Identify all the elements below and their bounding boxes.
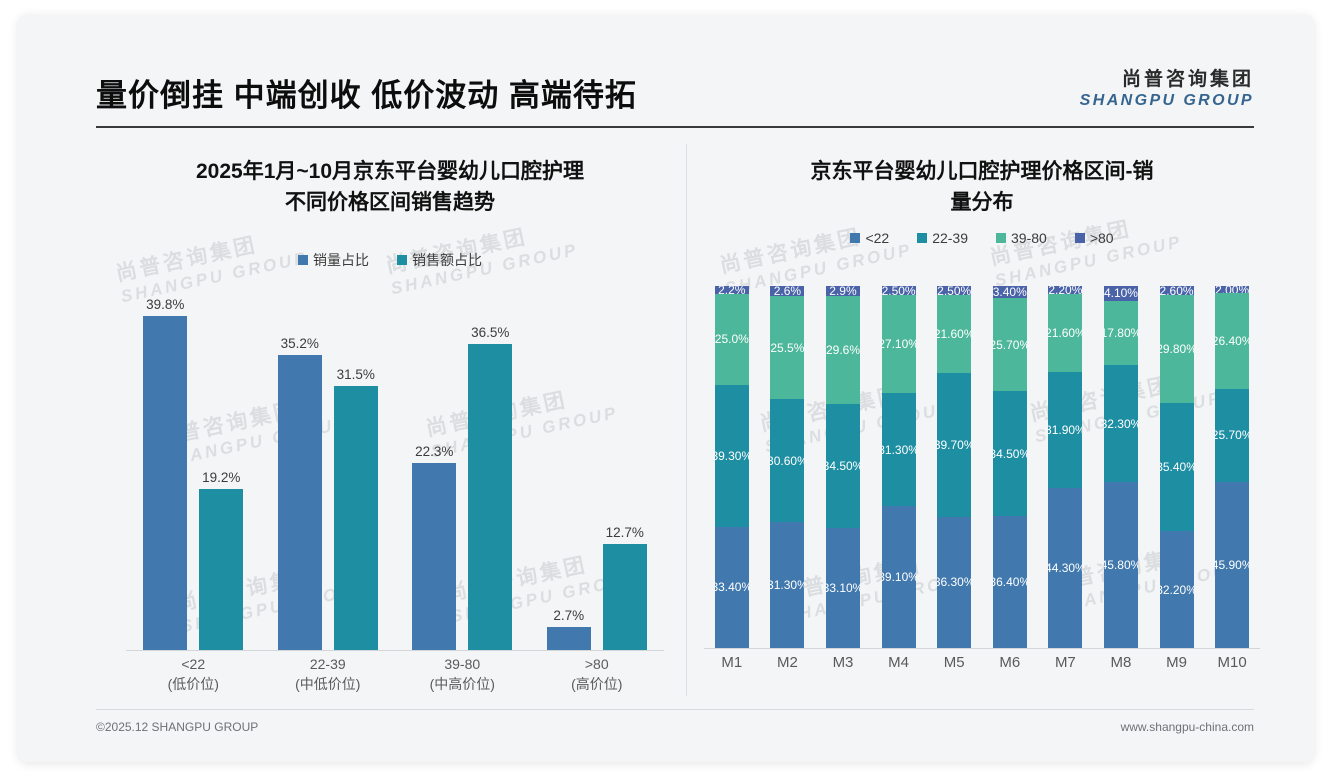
bar[interactable]	[278, 355, 322, 650]
stacked-bar-segment[interactable]: 3.40%	[993, 286, 1027, 298]
stacked-bar-segment[interactable]: 17.80%	[1104, 301, 1138, 365]
x-axis-tick: M3	[815, 654, 871, 671]
segment-value-label: 26.40%	[1215, 334, 1249, 348]
stacked-bar-segment[interactable]: 32.20%	[1160, 531, 1194, 648]
x-axis-tick: <22(低价位)	[126, 654, 261, 694]
x-axis-tick: >80(高价位)	[530, 654, 665, 694]
stacked-bar-column[interactable]: 2.20%21.60%31.90%44.30%	[1038, 286, 1094, 648]
stacked-bar-segment[interactable]: 36.40%	[993, 516, 1027, 648]
bar[interactable]	[334, 386, 378, 650]
stacked-bar-segment[interactable]: 2.00%	[1215, 286, 1249, 293]
logo-chinese-text: 尚普咨询集团	[1080, 69, 1254, 91]
panel-divider	[686, 144, 687, 696]
segment-value-label: 33.40%	[715, 580, 749, 594]
stacked-bar-column[interactable]: 2.6%25.5%30.60%31.30%	[760, 286, 816, 648]
x-axis-tick: M2	[760, 654, 816, 671]
stacked-bar-segment[interactable]: 2.20%	[1048, 286, 1082, 294]
stacked-bar-segment[interactable]: 2.2%	[715, 286, 749, 294]
stacked-bar-segment[interactable]: 30.60%	[770, 399, 804, 522]
segment-value-label: 35.40%	[1160, 460, 1194, 474]
x-axis-tick-sub: (高价位)	[530, 674, 665, 694]
legend-item[interactable]: 22-39	[917, 230, 968, 246]
stacked-bar-segment[interactable]: 2.50%	[882, 286, 916, 295]
x-axis-tick: M10	[1204, 654, 1260, 671]
segment-value-label: 3.40%	[993, 286, 1027, 298]
stacked-bar-segment[interactable]: 2.50%	[937, 286, 971, 295]
left-chart-title-line2: 不同价格区间销售趋势	[96, 187, 684, 218]
grouped-bar-plot-area: 39.8%19.2%35.2%31.5%22.3%36.5%2.7%12.7%	[126, 298, 664, 650]
segment-value-label: 29.6%	[826, 343, 860, 357]
left-chart-title-line1: 2025年1月~10月京东平台婴幼儿口腔护理	[96, 156, 684, 187]
left-chart-panel: 2025年1月~10月京东平台婴幼儿口腔护理 不同价格区间销售趋势 尚普咨询集团…	[96, 138, 684, 708]
segment-value-label: 2.6%	[774, 286, 801, 296]
stacked-bar-column[interactable]: 2.9%29.6%34.50%33.10%	[815, 286, 871, 648]
segment-value-label: 36.40%	[993, 575, 1027, 589]
stacked-bar-column[interactable]: 2.60%29.80%35.40%32.20%	[1149, 286, 1205, 648]
stacked-bar-segment[interactable]: 25.0%	[715, 294, 749, 385]
stacked-bar-segment[interactable]: 45.90%	[1215, 482, 1249, 648]
bar-group: 39.8%19.2%	[126, 298, 261, 650]
stacked-bar-segment[interactable]: 25.5%	[770, 296, 804, 399]
stacked-bar-column[interactable]: 2.2%25.0%39.30%33.40%	[704, 286, 760, 648]
bar[interactable]	[547, 627, 591, 650]
x-axis-tick: 22-39(中低价位)	[261, 654, 396, 694]
header-divider	[96, 126, 1254, 128]
segment-value-label: 25.5%	[770, 341, 804, 355]
legend-label: 39-80	[1011, 230, 1047, 246]
segment-value-label: 2.50%	[937, 286, 971, 295]
x-axis-tick: M9	[1149, 654, 1205, 671]
stacked-bar-segment[interactable]: 44.30%	[1048, 488, 1082, 648]
stacked-bar-segment[interactable]: 31.90%	[1048, 372, 1082, 487]
stacked-bar-segment[interactable]: 32.30%	[1104, 365, 1138, 482]
legend-label: 22-39	[932, 230, 968, 246]
bar-column[interactable]: 39.8%	[143, 298, 187, 650]
stacked-bar-segment[interactable]: 35.40%	[1160, 403, 1194, 531]
legend-swatch-icon	[397, 255, 407, 265]
bar-value-label: 2.7%	[553, 608, 584, 623]
stacked-bar-segment[interactable]: 33.10%	[826, 528, 860, 648]
segment-value-label: 31.90%	[1048, 423, 1082, 437]
stacked-bar-segment[interactable]: 4.10%	[1104, 286, 1138, 301]
segment-value-label: 29.80%	[1160, 342, 1194, 356]
segment-value-label: 25.0%	[715, 332, 749, 346]
segment-value-label: 44.30%	[1048, 561, 1082, 575]
bar-value-label: 39.8%	[146, 297, 184, 312]
x-axis-tick: M5	[926, 654, 982, 671]
segment-value-label: 34.50%	[993, 447, 1027, 461]
bar[interactable]	[468, 344, 512, 650]
segment-value-label: 39.30%	[715, 449, 749, 463]
stacked-bar-segment[interactable]: 2.6%	[770, 286, 804, 296]
stacked-bar-segment[interactable]: 39.30%	[715, 385, 749, 527]
bar-column[interactable]: 35.2%	[278, 298, 322, 650]
page-title: 量价倒挂 中端创收 低价波动 高端待拓	[96, 70, 637, 115]
footer-website: www.shangpu-china.com	[1121, 720, 1254, 734]
bar-value-label: 22.3%	[415, 444, 453, 459]
bar-column[interactable]: 22.3%	[412, 298, 456, 650]
bar-column[interactable]: 31.5%	[334, 298, 378, 650]
legend-label: >80	[1090, 230, 1114, 246]
legend-item[interactable]: >80	[1075, 230, 1114, 246]
grouped-bar-chart: 39.8%19.2%35.2%31.5%22.3%36.5%2.7%12.7% …	[116, 298, 664, 698]
stacked-bar-segment[interactable]: 29.80%	[1160, 295, 1194, 403]
stacked-bar-column[interactable]: 2.00%26.40%25.70%45.90%	[1204, 286, 1260, 648]
segment-value-label: 25.70%	[993, 338, 1027, 352]
segment-value-label: 30.60%	[770, 454, 804, 468]
right-chart-legend: <2222-3939-80>80	[690, 230, 1274, 246]
stacked-bar-segment[interactable]: 34.50%	[993, 391, 1027, 516]
stacked-bar-segment[interactable]: 21.60%	[1048, 294, 1082, 372]
stacked-bar-segment[interactable]: 45.80%	[1104, 482, 1138, 648]
segment-value-label: 27.10%	[882, 337, 916, 351]
segment-value-label: 21.60%	[1048, 326, 1082, 340]
x-axis-line	[704, 648, 1260, 649]
segment-value-label: 32.30%	[1104, 417, 1138, 431]
segment-value-label: 21.60%	[937, 327, 971, 341]
stacked-bar-segment[interactable]: 2.9%	[826, 286, 860, 296]
bar-value-label: 36.5%	[471, 325, 509, 340]
footer-copyright: ©2025.12 SHANGPU GROUP	[96, 720, 258, 734]
stacked-bar-segment[interactable]: 34.50%	[826, 404, 860, 529]
slide-header: 量价倒挂 中端创收 低价波动 高端待拓 尚普咨询集团 SHANGPU GROUP	[18, 14, 1314, 118]
stacked-bar-column[interactable]: 3.40%25.70%34.50%36.40%	[982, 286, 1038, 648]
x-axis-tick-labels: <22(低价位)22-39(中低价位)39-80(中高价位)>80(高价位)	[126, 654, 664, 694]
segment-value-label: 32.20%	[1160, 583, 1194, 597]
bar-value-label: 12.7%	[606, 525, 644, 540]
bar-value-label: 31.5%	[337, 367, 375, 382]
slide-canvas: 量价倒挂 中端创收 低价波动 高端待拓 尚普咨询集团 SHANGPU GROUP…	[18, 14, 1314, 762]
x-axis-tick: M4	[871, 654, 927, 671]
x-axis-tick: 39-80(中高价位)	[395, 654, 530, 694]
bar-value-label: 19.2%	[202, 470, 240, 485]
segment-value-label: 34.50%	[826, 459, 860, 473]
legend-label: 销售额占比	[412, 250, 482, 270]
legend-item[interactable]: 销售额占比	[397, 250, 482, 270]
segment-value-label: 39.70%	[937, 438, 971, 452]
segment-value-label: 2.9%	[829, 286, 856, 296]
bar-value-label: 35.2%	[281, 336, 319, 351]
stacked-bar-plot-area: 2.2%25.0%39.30%33.40%2.6%25.5%30.60%31.3…	[704, 286, 1260, 648]
logo-english-text: SHANGPU GROUP	[1080, 91, 1254, 111]
x-axis-tick-labels: M1M2M3M4M5M6M7M8M9M10	[704, 654, 1260, 671]
legend-swatch-icon	[996, 233, 1006, 243]
bar[interactable]	[143, 316, 187, 650]
stacked-bar-column[interactable]: 2.50%27.10%31.30%39.10%	[871, 286, 927, 648]
legend-swatch-icon	[1075, 233, 1085, 243]
right-chart-panel: 京东平台婴幼儿口腔护理价格区间-销 量分布 尚普咨询集团SHANGPU GROU…	[690, 138, 1274, 708]
x-axis-tick-main: <22	[181, 656, 205, 672]
stacked-bar-segment[interactable]: 27.10%	[882, 295, 916, 393]
segment-value-label: 31.30%	[770, 578, 804, 592]
segment-value-label: 39.10%	[882, 570, 916, 584]
x-axis-tick-main: 39-80	[444, 656, 480, 672]
left-chart-title: 2025年1月~10月京东平台婴幼儿口腔护理 不同价格区间销售趋势	[96, 156, 684, 218]
stacked-bar-segment[interactable]: 26.40%	[1215, 293, 1249, 389]
x-axis-tick: M8	[1093, 654, 1149, 671]
stacked-bar-segment[interactable]: 33.40%	[715, 527, 749, 648]
stacked-bar-chart: 2.2%25.0%39.30%33.40%2.6%25.5%30.60%31.3…	[704, 286, 1260, 706]
x-axis-tick: M6	[982, 654, 1038, 671]
legend-swatch-icon	[850, 233, 860, 243]
x-axis-line	[126, 650, 664, 651]
legend-item[interactable]: 39-80	[996, 230, 1047, 246]
company-logo: 尚普咨询集团 SHANGPU GROUP	[1080, 69, 1254, 111]
x-axis-tick: M7	[1038, 654, 1094, 671]
segment-value-label: 2.20%	[1048, 286, 1082, 294]
legend-swatch-icon	[298, 255, 308, 265]
right-chart-title: 京东平台婴幼儿口腔护理价格区间-销 量分布	[690, 156, 1274, 218]
x-axis-tick-sub: (中高价位)	[395, 674, 530, 694]
segment-value-label: 2.60%	[1160, 286, 1194, 295]
stacked-bar-segment[interactable]: 39.70%	[937, 373, 971, 517]
segment-value-label: 2.50%	[882, 286, 916, 295]
stacked-bar-segment[interactable]: 25.70%	[993, 298, 1027, 391]
segment-value-label: 17.80%	[1104, 326, 1138, 340]
bar-column[interactable]: 12.7%	[603, 298, 647, 650]
bar-group: 2.7%12.7%	[530, 298, 665, 650]
segment-value-label: 4.10%	[1104, 286, 1138, 300]
bar[interactable]	[603, 544, 647, 650]
bar-column[interactable]: 36.5%	[468, 298, 512, 650]
segment-value-label: 33.10%	[826, 581, 860, 595]
legend-label: 销量占比	[313, 250, 369, 270]
stacked-bar-segment[interactable]: 21.60%	[937, 295, 971, 373]
segment-value-label: 2.2%	[718, 286, 745, 294]
stacked-bar-segment[interactable]: 36.30%	[937, 517, 971, 648]
legend-item[interactable]: <22	[850, 230, 889, 246]
bar-group: 22.3%36.5%	[395, 298, 530, 650]
segment-value-label: 31.30%	[882, 443, 916, 457]
x-axis-tick-sub: (低价位)	[126, 674, 261, 694]
bar-column[interactable]: 19.2%	[199, 298, 243, 650]
stacked-bar-column[interactable]: 2.50%21.60%39.70%36.30%	[926, 286, 982, 648]
segment-value-label: 45.90%	[1215, 558, 1249, 572]
stacked-bar-segment[interactable]: 25.70%	[1215, 389, 1249, 482]
stacked-bar-segment[interactable]: 39.10%	[882, 506, 916, 648]
stacked-bar-segment[interactable]: 31.30%	[770, 522, 804, 648]
x-axis-tick-sub: (中低价位)	[261, 674, 396, 694]
legend-label: <22	[865, 230, 889, 246]
bar-column[interactable]: 2.7%	[547, 298, 591, 650]
x-axis-tick: M1	[704, 654, 760, 671]
left-chart-legend: 销量占比销售额占比	[96, 250, 684, 270]
stacked-bar-segment[interactable]: 2.60%	[1160, 286, 1194, 295]
stacked-bar-column[interactable]: 4.10%17.80%32.30%45.80%	[1093, 286, 1149, 648]
segment-value-label: 36.30%	[937, 575, 971, 589]
bar[interactable]	[199, 489, 243, 650]
bar-group: 35.2%31.5%	[261, 298, 396, 650]
segment-value-label: 2.00%	[1215, 286, 1249, 293]
bar[interactable]	[412, 463, 456, 650]
footer-divider	[96, 709, 1254, 710]
legend-swatch-icon	[917, 233, 927, 243]
x-axis-tick-main: >80	[585, 656, 609, 672]
legend-item[interactable]: 销量占比	[298, 250, 369, 270]
segment-value-label: 25.70%	[1215, 428, 1249, 442]
right-chart-title-line2: 量分布	[690, 187, 1274, 218]
stacked-bar-segment[interactable]: 31.30%	[882, 393, 916, 506]
x-axis-tick-main: 22-39	[310, 656, 346, 672]
stacked-bar-segment[interactable]: 29.6%	[826, 296, 860, 403]
right-chart-title-line1: 京东平台婴幼儿口腔护理价格区间-销	[690, 156, 1274, 187]
segment-value-label: 45.80%	[1104, 558, 1138, 572]
